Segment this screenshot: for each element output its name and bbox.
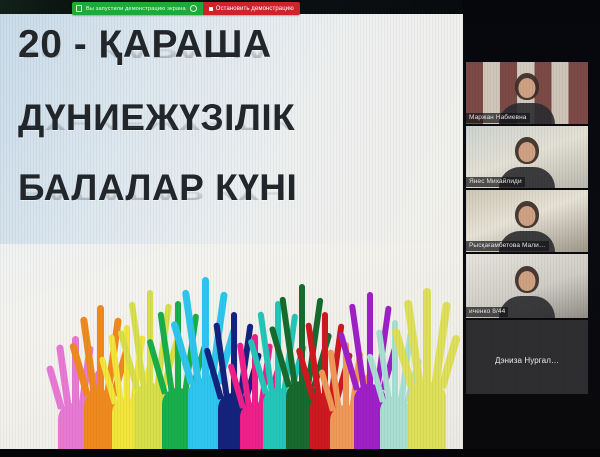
title-line-1-reflection: 20 - ҚАРАША <box>18 41 448 60</box>
stop-share-button[interactable]: Остановить демонстрацию <box>203 2 300 15</box>
title-line-2-reflection: ДҮНИЕЖҮЗІЛІК <box>18 114 448 132</box>
screen-share-toolbar[interactable]: Вы запустили демонстрацию экрана Останов… <box>72 2 300 15</box>
title-line-3-reflection: БАЛАЛАР КҮНІ <box>18 184 448 202</box>
participant-face <box>519 271 536 291</box>
title-line-1: 20 - ҚАРАША 20 - ҚАРАША <box>18 26 448 98</box>
hand-finger <box>97 305 104 396</box>
participant-name-label: Рысқағамбетова Мали… <box>466 241 549 252</box>
hand-palm <box>408 382 446 449</box>
participant-name-label: Дэниза Нургал… <box>492 354 562 367</box>
share-status: Вы запустили демонстрацию экрана <box>72 2 203 15</box>
raised-hands-artwork <box>58 242 448 449</box>
hand-finger <box>423 288 431 388</box>
hand-silhouette <box>408 295 446 449</box>
share-status-text: Вы запустили демонстрацию экрана <box>86 6 186 12</box>
hand-finger <box>202 277 209 384</box>
participant-tile[interactable]: Маржан Набиевна <box>466 62 588 126</box>
participant-video-strip[interactable]: Маржан НабиевнаЯнес МихайлидиРысқағамбет… <box>466 62 588 394</box>
shared-slide: 20 - ҚАРАША 20 - ҚАРАША ДҮНИЕЖҮЗІЛІК ДҮН… <box>0 14 463 449</box>
lock-icon <box>76 5 82 12</box>
participant-face <box>519 78 536 98</box>
participant-face <box>519 142 536 162</box>
stop-square-icon <box>209 7 213 11</box>
slide-title: 20 - ҚАРАША 20 - ҚАРАША ДҮНИЕЖҮЗІЛІК ДҮН… <box>18 26 448 238</box>
participant-tile[interactable]: Дэниза Нургал… <box>466 320 588 394</box>
photographed-monitor: 20 - ҚАРАША 20 - ҚАРАША ДҮНИЕЖҮЗІЛІК ДҮН… <box>0 0 600 457</box>
participant-name-label: иченко 8/44 <box>466 307 508 318</box>
participant-tile[interactable]: иченко 8/44 <box>466 254 588 320</box>
monitor-bottom-edge <box>0 449 600 457</box>
pause-icon[interactable] <box>190 5 197 12</box>
stop-share-label: Остановить демонстрацию <box>216 6 294 12</box>
participant-name-label: Янес Михайлиди <box>466 177 525 188</box>
participant-face <box>519 206 536 226</box>
hand-silhouette <box>188 285 222 449</box>
participant-tile[interactable]: Янес Михайлиди <box>466 126 588 190</box>
participant-tile[interactable]: Рысқағамбетова Мали… <box>466 190 588 254</box>
title-line-2: ДҮНИЕЖҮЗІЛІК ДҮНИЕЖҮЗІЛІК <box>18 100 448 168</box>
participant-name-label: Маржан Набиевна <box>466 113 530 124</box>
hand-palm <box>380 396 410 449</box>
title-line-3: БАЛАЛАР КҮНІ БАЛАЛАР КҮНІ <box>18 170 448 238</box>
